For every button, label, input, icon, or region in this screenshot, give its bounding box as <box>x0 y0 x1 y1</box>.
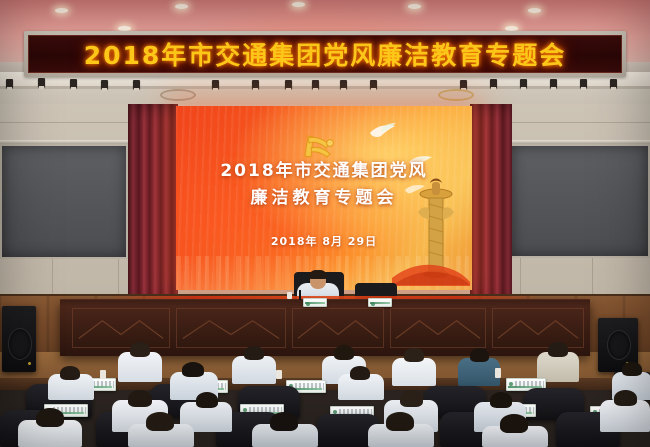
track-spotlight-icon <box>312 80 319 89</box>
attendee-hair <box>130 342 150 357</box>
red-ribbon-icon <box>392 252 470 286</box>
track-spotlight-icon <box>370 80 377 89</box>
attendee-hair <box>60 366 80 380</box>
pa-speaker-badge <box>28 362 31 365</box>
track-spotlight-icon <box>340 80 347 89</box>
screen-title-line2: 廉洁教育专题会 <box>176 185 472 212</box>
water-cup <box>100 370 106 379</box>
track-spotlight-icon <box>212 80 219 89</box>
screen-title-line1: 2018年市交通集团党风 <box>220 161 427 181</box>
water-cup <box>287 292 292 299</box>
presider-nameplate <box>303 298 327 307</box>
track-spotlight-icon <box>610 79 617 88</box>
attendee-hair <box>400 390 423 407</box>
attendee-hair <box>470 348 489 362</box>
track-spotlight-icon <box>460 80 467 89</box>
track-spotlight-icon <box>38 78 45 87</box>
screen-date: 2018年 8月 29日 <box>176 233 472 249</box>
attendee-hair <box>490 392 512 408</box>
nameplate-text <box>295 383 324 390</box>
attendee-hair <box>182 362 204 377</box>
track-spotlight-icon <box>285 80 292 89</box>
attendee-hair <box>386 412 414 431</box>
screen-title: 2018年市交通集团党风 廉洁教育专题会 <box>176 158 472 212</box>
acoustic-panel-right <box>510 144 650 258</box>
attendee-hair <box>622 362 642 376</box>
attendee-hair <box>500 414 528 433</box>
ceiling-downlight <box>528 8 541 13</box>
presider-hair <box>309 270 327 279</box>
attendee-torso <box>458 358 500 386</box>
ceiling-vent-icon <box>438 89 474 101</box>
attendee-hair <box>548 342 568 357</box>
pa-speaker-left <box>2 306 36 372</box>
attendee-hair <box>128 390 152 407</box>
pa-speaker-cone <box>8 328 32 360</box>
track-spotlight-icon <box>6 79 13 88</box>
attendee-hair <box>146 412 174 431</box>
track-spotlight-icon <box>490 79 497 88</box>
ceiling-downlight <box>292 2 305 7</box>
water-cup <box>495 368 501 378</box>
track-spotlight-icon <box>101 80 108 89</box>
attendee-torso <box>392 358 436 386</box>
attendee-hair <box>270 412 298 431</box>
projection-screen: 2018年市交通集团党风 廉洁教育专题会 2018年 8月 29日 <box>176 106 472 290</box>
attendee-hair <box>334 345 354 360</box>
attendee-hair <box>614 390 637 406</box>
microphone-icon <box>299 290 301 300</box>
table-nameplate <box>368 298 392 307</box>
table-panel <box>176 308 286 348</box>
table-panel <box>390 308 486 348</box>
ceiling-vent-icon <box>160 89 196 101</box>
nameplate-text <box>515 381 544 388</box>
attendee-hair <box>404 348 424 362</box>
table-panel <box>492 308 584 348</box>
attendee-hair <box>196 392 218 408</box>
track-spotlight-icon <box>580 79 587 88</box>
table-panel <box>292 308 384 348</box>
track-spotlight-icon <box>70 79 77 88</box>
track-spotlight-icon <box>252 80 259 89</box>
curtain-left <box>128 104 178 314</box>
attendee-hair <box>36 408 64 427</box>
table-panel <box>72 308 170 348</box>
ceiling-downlight <box>175 4 188 9</box>
pa-speaker-cone <box>607 330 631 360</box>
track-spotlight-icon <box>133 80 140 89</box>
attendee-hair <box>244 346 264 360</box>
attendee-hair <box>350 366 370 380</box>
track-spotlight-icon <box>550 79 557 88</box>
conference-hall-photo: 2018年市交通集团党风廉洁教育专题会 <box>0 0 650 447</box>
curtain-right <box>470 104 512 314</box>
track-spotlight-icon <box>520 79 527 88</box>
attendee-torso <box>232 356 276 384</box>
water-cup <box>276 370 282 379</box>
led-sign-text: 2018年市交通集团党风廉洁教育专题会 <box>84 36 567 72</box>
ceiling-downlight <box>408 4 421 9</box>
led-sign: 2018年市交通集团党风廉洁教育专题会 <box>28 35 622 73</box>
track-light-row <box>0 78 650 92</box>
acoustic-panel-left <box>0 144 128 259</box>
dove-icon <box>368 120 398 140</box>
ceiling-downlight <box>55 8 68 13</box>
